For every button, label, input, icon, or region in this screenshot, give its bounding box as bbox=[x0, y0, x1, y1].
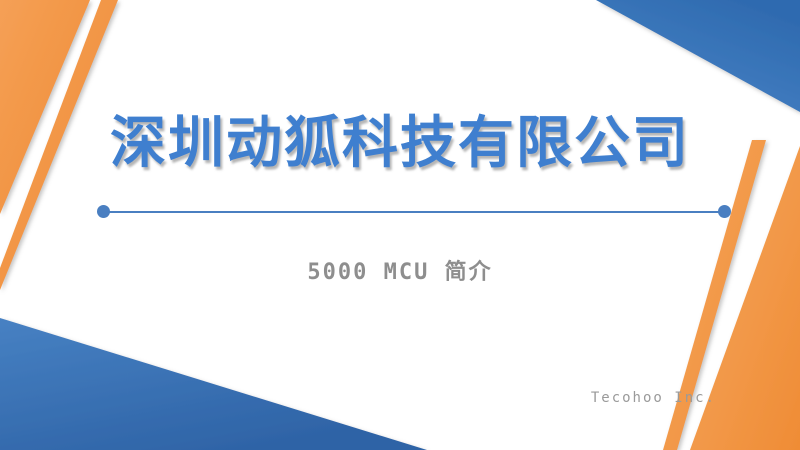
blue-wedge-top-right-shape bbox=[596, 0, 800, 112]
orange-wedge-top-left-shape bbox=[0, 0, 90, 214]
slide-subtitle: 5000 MCU 简介 bbox=[0, 254, 800, 286]
divider-dot-right-icon bbox=[718, 205, 731, 218]
title-container: 深圳动狐科技有限公司 bbox=[0, 112, 800, 176]
title-divider bbox=[97, 205, 731, 219]
slide-decoration bbox=[0, 0, 800, 450]
slide-title: 深圳动狐科技有限公司 bbox=[0, 112, 800, 176]
subtitle-container: 5000 MCU 简介 bbox=[0, 254, 800, 286]
blue-wedge-bottom-left-shape bbox=[0, 318, 427, 450]
footer-company-mark: Tecohoo Inc. bbox=[591, 390, 716, 406]
divider-rule bbox=[103, 211, 725, 213]
title-slide: 深圳动狐科技有限公司 5000 MCU 简介 Tecohoo Inc. bbox=[0, 0, 800, 450]
